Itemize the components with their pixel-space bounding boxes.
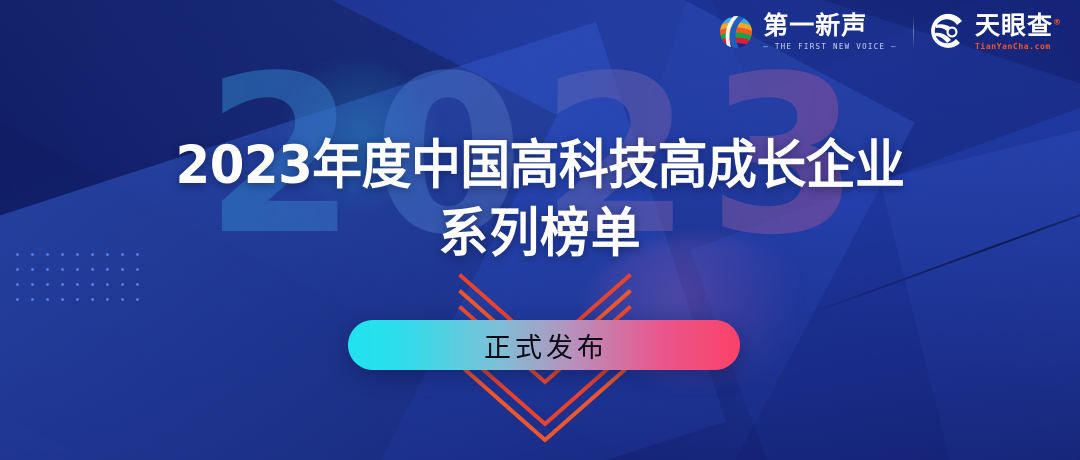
trademark-symbol: ® <box>1053 18 1062 27</box>
swirl-logo-icon <box>716 12 756 52</box>
page-title-line-2: 系列榜单 <box>32 200 1047 268</box>
logo-diyixinsheng-name: 第一新声 <box>763 13 897 39</box>
release-status-label: 正式发布 <box>480 326 608 365</box>
logo-tianyancha-name: 天眼查® <box>975 13 1062 39</box>
eye-aperture-logo-icon <box>930 13 968 51</box>
logo-bar: 第一新声 — THE FIRST NEW VOICE — 天眼查® TianYa… <box>716 12 1062 52</box>
poster-banner: 2023 2023年度中国高科技高成长企业 系列榜单 正式发布 <box>0 0 1080 460</box>
logo-divider <box>913 15 914 49</box>
page-title: 2023年度中国高科技高成长企业 系列榜单 <box>32 132 1047 268</box>
logo-diyixinsheng-tagline: — THE FIRST NEW VOICE — <box>763 42 897 51</box>
logo-diyixinsheng-text: 第一新声 — THE FIRST NEW VOICE — <box>763 13 897 51</box>
logo-tianyancha-text: 天眼查® TianYanCha.com <box>975 13 1062 50</box>
page-title-line-1: 2023年度中国高科技高成长企业 <box>32 132 1047 200</box>
logo-tianyancha[interactable]: 天眼查® TianYanCha.com <box>930 13 1062 51</box>
logo-diyixinsheng[interactable]: 第一新声 — THE FIRST NEW VOICE — <box>716 12 897 52</box>
logo-tianyancha-tagline: TianYanCha.com <box>975 42 1062 51</box>
release-status-badge: 正式发布 <box>348 320 740 370</box>
logo-tianyancha-name-cn: 天眼查 <box>975 11 1053 40</box>
